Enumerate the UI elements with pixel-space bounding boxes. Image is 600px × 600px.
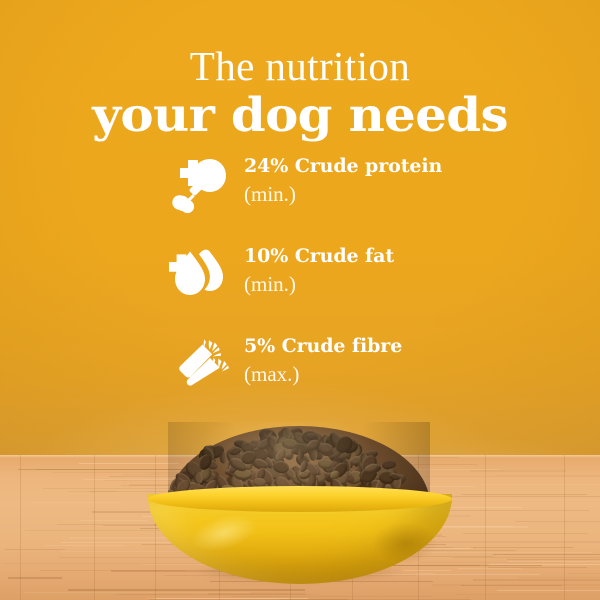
- fact-value: 5% Crude fibre: [244, 334, 402, 358]
- fact-value: 10% Crude fat: [244, 244, 394, 268]
- headline-line-1: The nutrition: [0, 44, 600, 88]
- fact-value: 24% Crude protein: [244, 154, 442, 178]
- headline-line-2: your dog needs: [0, 90, 600, 142]
- drumstick-plus-icon: [168, 156, 230, 214]
- carrots-icon: [168, 336, 230, 394]
- list-item: 10% Crude fat (min.): [168, 242, 498, 332]
- bowl-rim: [148, 486, 452, 512]
- bowl-shading: [360, 514, 450, 572]
- fact-note: (min.): [244, 271, 394, 297]
- fact-text-group: 5% Crude fibre (max.): [244, 334, 402, 387]
- nutrition-facts-list: 24% Crude protein (min.) 10% Crude fat: [168, 152, 498, 422]
- droplet-plus-icon: [168, 246, 230, 304]
- fact-text-group: 24% Crude protein (min.): [244, 154, 442, 207]
- promo-banner: The nutrition your dog needs 24% Crude p…: [0, 0, 600, 600]
- list-item: 24% Crude protein (min.): [168, 152, 498, 242]
- product-bowl: [140, 418, 460, 588]
- fact-text-group: 10% Crude fat (min.): [244, 244, 394, 297]
- fact-note: (max.): [244, 361, 402, 387]
- list-item: 5% Crude fibre (max.): [168, 332, 498, 422]
- page-title: The nutrition your dog needs: [0, 44, 600, 142]
- fact-note: (min.): [244, 181, 442, 207]
